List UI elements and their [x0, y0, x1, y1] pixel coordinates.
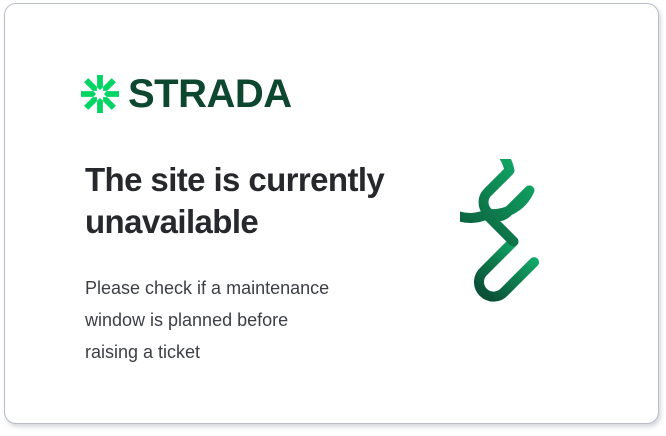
maintenance-notice-card: STRADA The site is currently unavailable… [4, 3, 659, 424]
description-line: Please check if a maintenance [85, 272, 395, 304]
page-description: Please check if a maintenance window is … [85, 272, 395, 368]
brand-wordmark: STRADA [128, 74, 292, 114]
description-line: window is planned before [85, 304, 395, 336]
page-title: The site is currently unavailable [85, 159, 425, 243]
description-line: raising a ticket [85, 336, 395, 368]
brand-lockup: STRADA [81, 72, 292, 116]
wrench-icon [460, 159, 612, 311]
strada-asterisk-icon [81, 75, 119, 113]
